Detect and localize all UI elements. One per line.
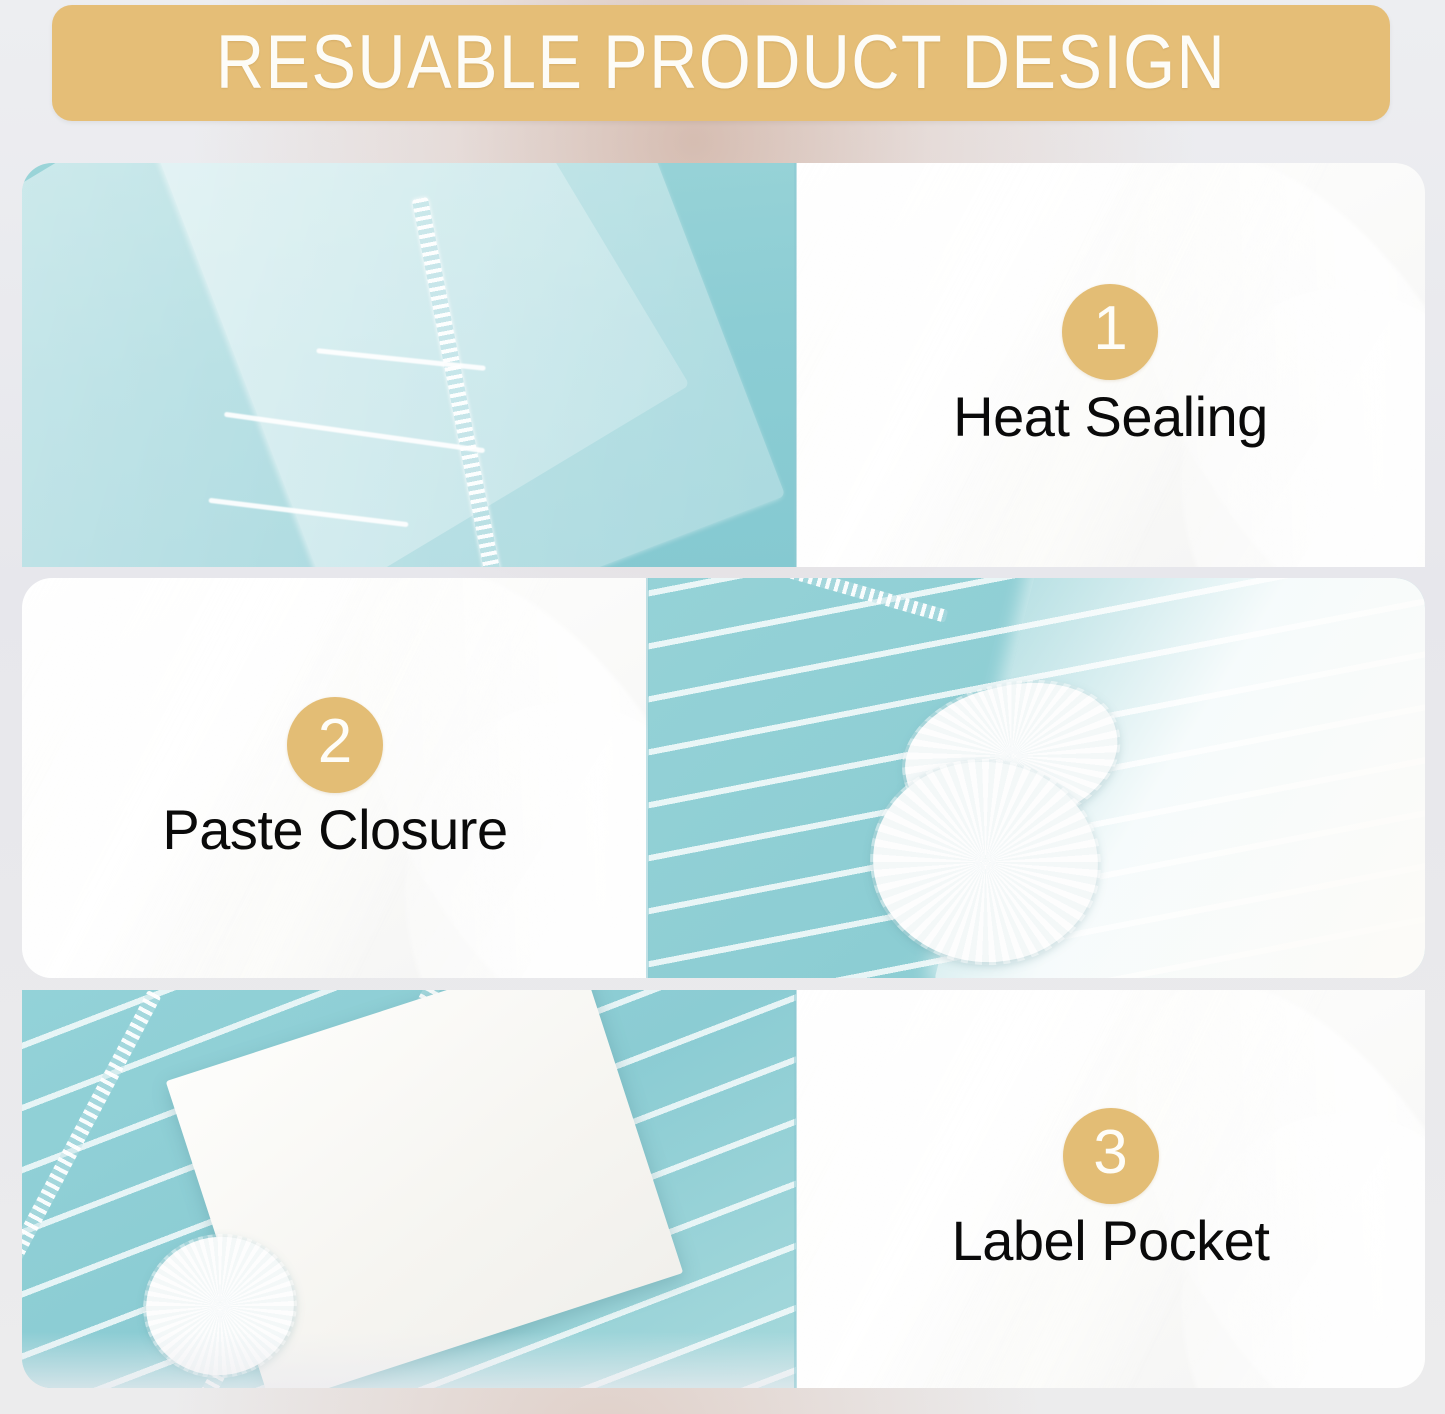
infographic-canvas: RESUABLE PRODUCT DESIGN 1 Heat Sealing 2 [0,0,1445,1414]
feature-photo-label-pocket [22,990,796,1388]
step-number-badge-3: 3 [1063,1108,1159,1204]
feature-label-3: Label Pocket [952,1212,1270,1271]
step-number-badge-1: 1 [1062,284,1158,380]
page-title: RESUABLE PRODUCT DESIGN [216,25,1226,101]
step-number-2: 2 [318,711,352,773]
feature-label-2: Paste Closure [162,801,507,860]
step-number-badge-2: 2 [287,697,383,793]
step-number-3: 3 [1093,1122,1127,1184]
feature-photo-heat-sealing [22,163,796,567]
panel-seam [794,990,797,1388]
bottom-fade-overlay [22,1332,796,1388]
panel-seam [646,578,649,978]
header-banner: RESUABLE PRODUCT DESIGN [52,5,1390,121]
feature-caption-heat-sealing: 1 Heat Sealing [796,163,1425,567]
feature-label-1: Heat Sealing [953,388,1268,447]
feature-photo-paste-closure [648,578,1425,978]
panel-seam [794,163,797,567]
feature-caption-paste-closure: 2 Paste Closure [22,578,648,978]
step-number-1: 1 [1093,298,1127,360]
feature-caption-label-pocket: 3 Label Pocket [796,990,1425,1388]
